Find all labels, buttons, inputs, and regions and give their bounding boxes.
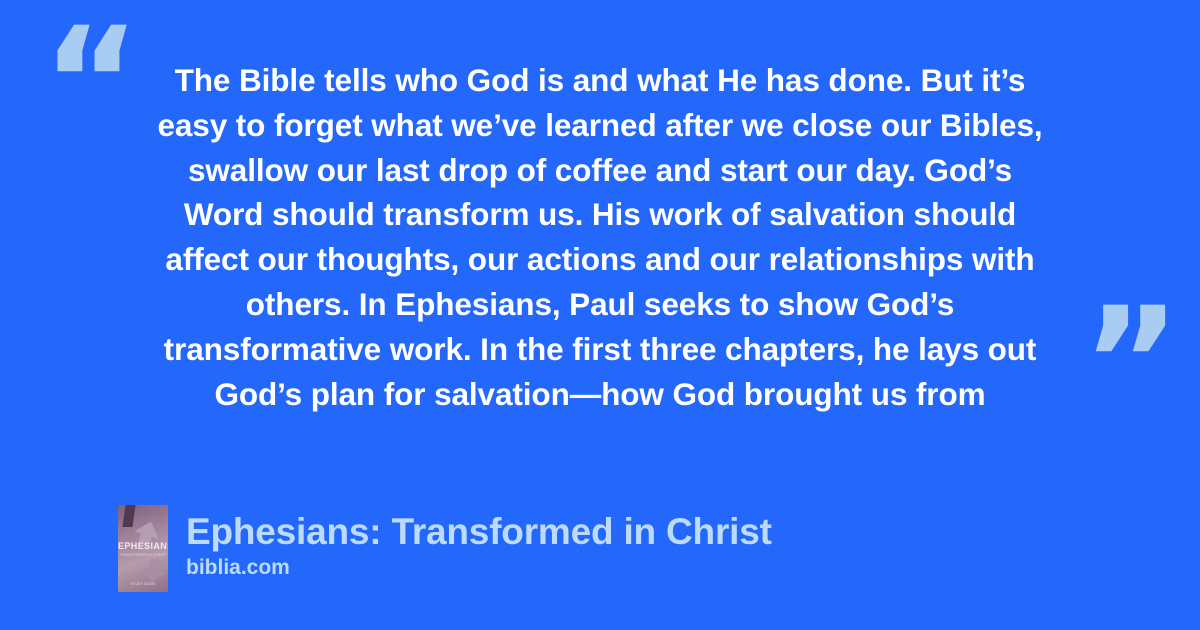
quote-line: easy to forget what we’ve learned after … xyxy=(100,103,1100,148)
book-title[interactable]: Ephesians: Transformed in Christ xyxy=(186,511,772,553)
attribution-footer: EPHESIANS TRANSFORMED IN CHRIST STUDY GU… xyxy=(118,505,772,592)
book-cover-thumbnail[interactable]: EPHESIANS TRANSFORMED IN CHRIST STUDY GU… xyxy=(118,505,168,592)
quote-text: The Bible tells who God is and what He h… xyxy=(100,58,1100,416)
quote-line: Word should transform us. His work of sa… xyxy=(100,192,1100,237)
quote-line: The Bible tells who God is and what He h… xyxy=(100,58,1100,103)
book-cover-author: STUDY GUIDE xyxy=(118,582,168,586)
quote-line: transformative work. In the first three … xyxy=(100,327,1100,372)
site-name[interactable]: biblia.com xyxy=(186,555,772,581)
quote-line: swallow our last drop of coffee and star… xyxy=(100,148,1100,193)
quote-line: others. In Ephesians, Paul seeks to show… xyxy=(100,282,1100,327)
book-cover-subtitle: TRANSFORMED IN CHRIST xyxy=(118,553,168,558)
quote-line: God’s plan for salvation—how God brought… xyxy=(100,372,1100,417)
book-cover-title: EPHESIANS xyxy=(118,541,168,551)
quote-line: affect our thoughts, our actions and our… xyxy=(100,237,1100,282)
footer-text-group: Ephesians: Transformed in Christ biblia.… xyxy=(186,505,772,581)
quote-card: “ ” The Bible tells who God is and what … xyxy=(0,0,1200,630)
